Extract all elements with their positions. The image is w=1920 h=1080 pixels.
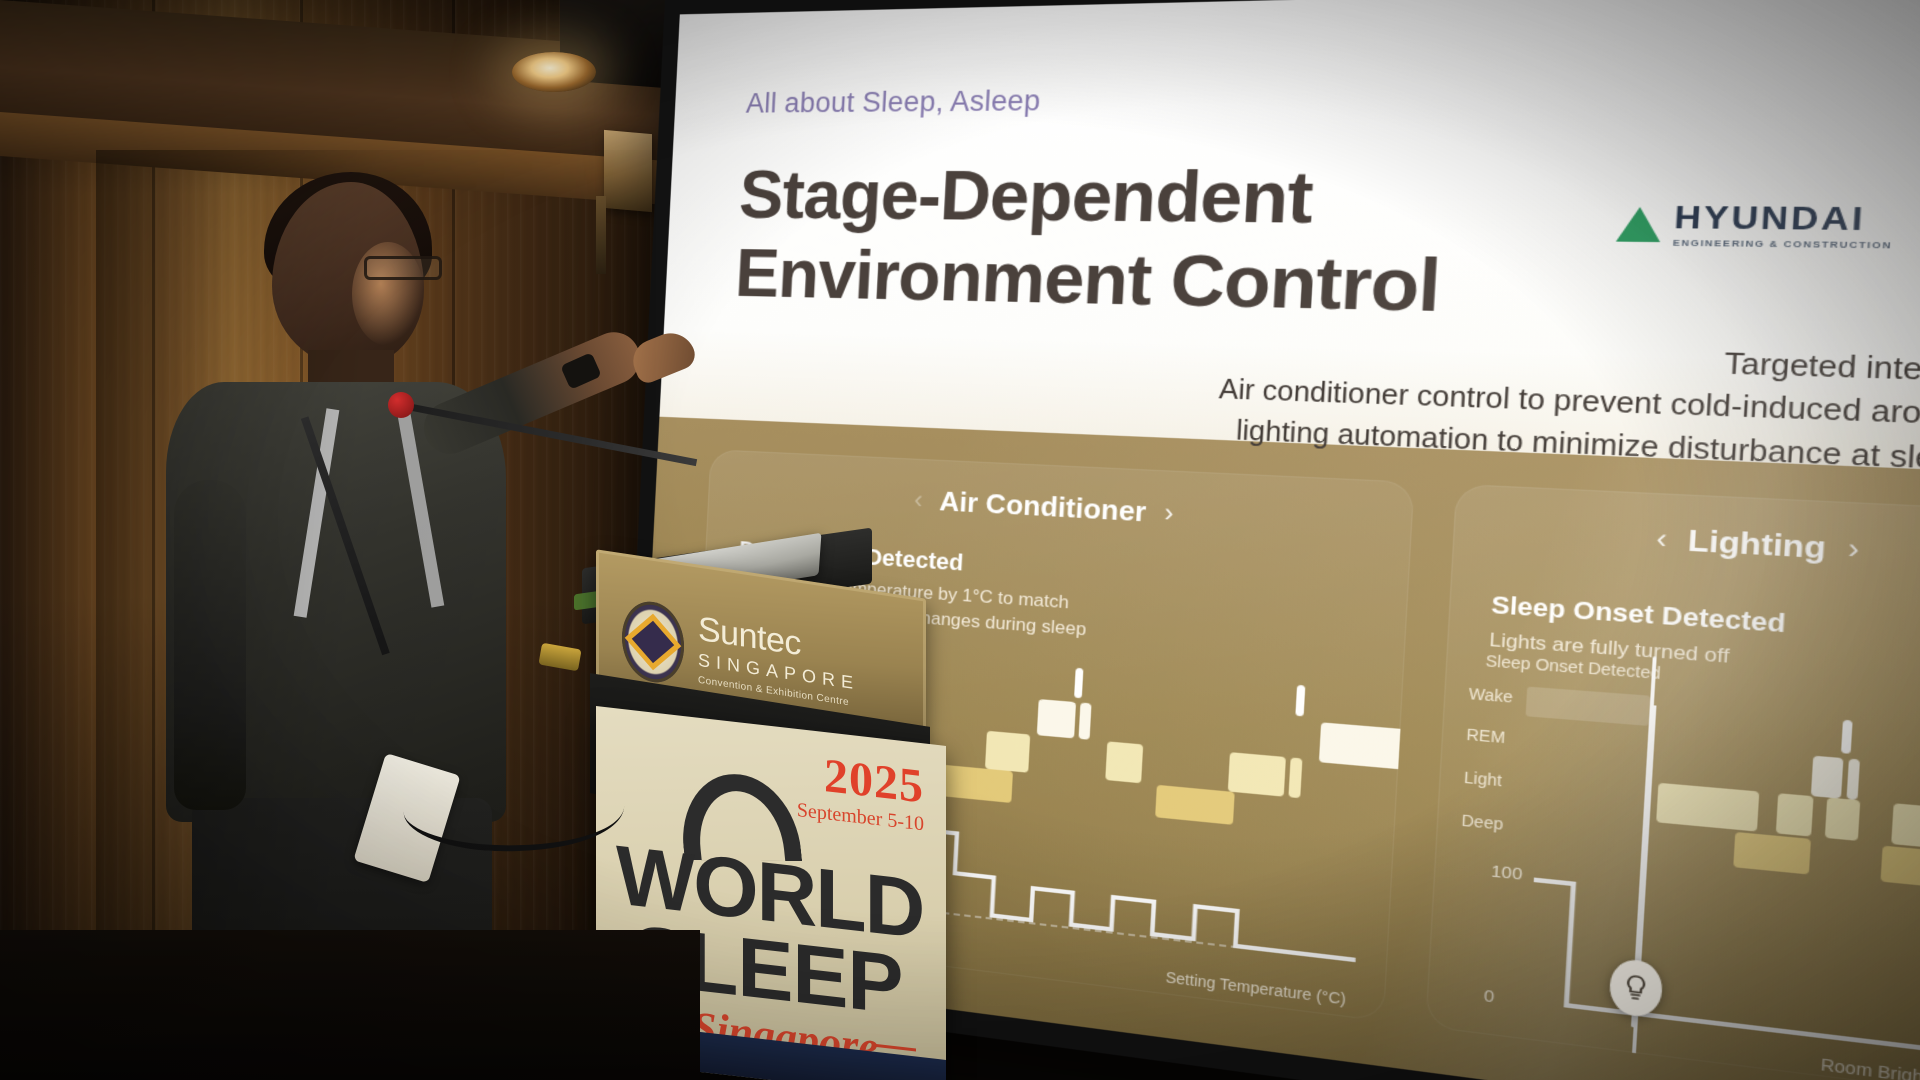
suntec-logo-icon <box>622 597 684 686</box>
brightness-y-max: 100 <box>1491 862 1523 885</box>
floor <box>0 930 700 1080</box>
microphone-head <box>388 392 414 418</box>
card-nav-lighting[interactable]: ‹ Lighting › <box>1452 511 1920 581</box>
brightness-y-min: 0 <box>1483 986 1495 1006</box>
hypnogram-block-wake <box>1295 685 1305 717</box>
hypnogram-block-deep <box>1880 846 1920 889</box>
card-lighting[interactable]: ‹ Lighting › Sleep Onset Detected Lights… <box>1425 484 1920 1080</box>
stage-label-rem: REM <box>1466 725 1506 746</box>
slide-eyebrow: All about Sleep, Asleep <box>745 85 1041 120</box>
hypnogram-block-light <box>1656 783 1759 832</box>
hypnogram-block-light <box>1891 803 1920 848</box>
screenshot-root: All about Sleep, Asleep Stage-Dependent … <box>0 0 1920 1080</box>
hypnogram-block-rem <box>1319 722 1414 770</box>
hypnogram-block-rem <box>1810 756 1843 799</box>
ceiling-downlight <box>512 52 596 92</box>
stage-label-wake: Wake <box>1468 684 1513 706</box>
stage-label-deep: Deep <box>1461 811 1504 833</box>
hypnogram-block-deep <box>1155 785 1235 825</box>
hypnogram-block-rem <box>1037 699 1076 738</box>
lightbulb-glyph <box>1620 971 1650 1004</box>
hypnogram-block-light <box>1228 752 1286 797</box>
hypnogram-block-light <box>1105 741 1143 783</box>
chevron-right-icon[interactable]: › <box>1164 498 1175 529</box>
hypnogram-block-wake <box>1841 720 1853 754</box>
chevron-left-icon[interactable]: ‹ <box>913 485 923 515</box>
hypnogram-block-light <box>1288 757 1302 798</box>
presenter-left-arm <box>174 480 246 810</box>
card-title-air-conditioner: Air Conditioner <box>939 485 1148 529</box>
chevron-left-icon[interactable]: ‹ <box>1656 523 1668 556</box>
banner-rule-right <box>872 1044 916 1052</box>
hypnogram-block-light <box>1775 793 1813 836</box>
hyundai-triangle-icon <box>1616 207 1662 242</box>
hyundai-logo: HYUNDAI ENGINEERING & CONSTRUCTION <box>1615 201 1894 251</box>
hyundai-wordmark: HYUNDAI <box>1673 201 1894 236</box>
stage-label-light: Light <box>1463 768 1502 789</box>
presenter-glasses <box>364 256 442 280</box>
hypnogram-block-deep <box>1733 832 1811 875</box>
chevron-right-icon[interactable]: › <box>1847 533 1860 567</box>
onset-highlight-band <box>1525 687 1650 726</box>
hypnogram-block-light <box>1401 767 1414 819</box>
card-title-lighting: Lighting <box>1687 523 1827 567</box>
hypnogram-block-light <box>1824 797 1859 840</box>
hypnogram-block-rem <box>1079 702 1092 739</box>
hypnogram-block-wake <box>1074 668 1083 699</box>
hypnogram-block-light <box>985 731 1030 773</box>
hypnogram-block-rem <box>1846 759 1860 801</box>
logo-group: HYUNDAI ENGINEERING & CONSTRUCTION Aslee… <box>1615 201 1920 253</box>
slide-title-line1: Stage-Dependent <box>737 155 1447 242</box>
slide-title: Stage-Dependent Environment Control <box>733 155 1447 330</box>
